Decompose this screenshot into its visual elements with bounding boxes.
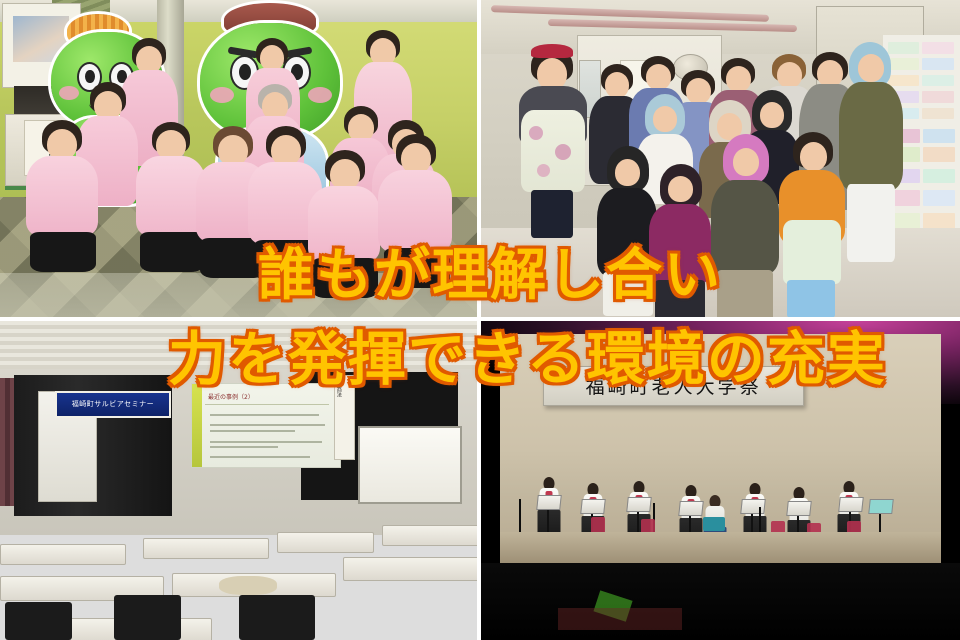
slide-body-line <box>210 441 322 443</box>
slide-body-line <box>210 446 278 448</box>
desk <box>382 525 477 546</box>
seminar-banner-text: 福崎町サルビアセミナー <box>72 399 154 409</box>
audience-area <box>481 563 960 640</box>
photo-panel-lobby-group: 受付 <box>0 0 477 317</box>
audience-seats <box>558 608 683 630</box>
whiteboard <box>358 426 462 503</box>
seminar-banner: 福崎町サルビアセミナー <box>55 391 171 417</box>
photo-panel-stage-performance: 福崎町老人大学祭 <box>481 321 960 640</box>
photo-collage: 受付 <box>0 0 960 640</box>
slide-title: 最近の事例（2） <box>208 392 254 401</box>
chair <box>5 602 72 640</box>
instrument-case <box>703 517 725 531</box>
seminar-ceiling <box>0 321 477 375</box>
photo-panel-seminar-room: 福崎町サルビアセミナー 最近の事例（2） 悪質商法 <box>0 321 477 640</box>
projection-screen: 最近の事例（2） <box>191 383 341 468</box>
mascot-cheek-right <box>308 87 332 103</box>
slide-body-line <box>210 414 319 416</box>
desk <box>143 538 269 559</box>
slide-body-line <box>210 430 296 432</box>
person-front-1 <box>26 120 100 270</box>
person-front-orange <box>779 132 847 317</box>
person-front-magenta <box>649 164 713 317</box>
person-front-6 <box>378 134 454 286</box>
chair <box>239 595 315 640</box>
hat-on-desk <box>219 576 276 595</box>
person-hijab-teal <box>839 42 905 262</box>
person-front-hijab-pink <box>711 134 781 317</box>
slide-rule <box>205 404 329 405</box>
person-front-5 <box>308 150 382 296</box>
desk <box>277 532 374 553</box>
photo-panel-multicultural-group <box>481 0 960 317</box>
stage-banner-text: 福崎町老人大学祭 <box>586 372 762 399</box>
stage-apron <box>500 532 941 564</box>
vertical-banner: 悪質商法 <box>334 375 355 460</box>
slide-body-line <box>210 424 325 426</box>
slide-side-bar <box>192 384 202 467</box>
desk <box>343 557 477 581</box>
desk <box>0 544 126 565</box>
person-staff-apron <box>517 48 589 238</box>
mascot-cheek-left <box>210 87 234 103</box>
slide-body-line <box>210 456 311 458</box>
stage-banner: 福崎町老人大学祭 <box>543 366 804 406</box>
vertical-banner-text: 悪質商法 <box>336 377 343 397</box>
grid-divider-horizontal <box>0 317 960 321</box>
chair <box>114 595 181 640</box>
